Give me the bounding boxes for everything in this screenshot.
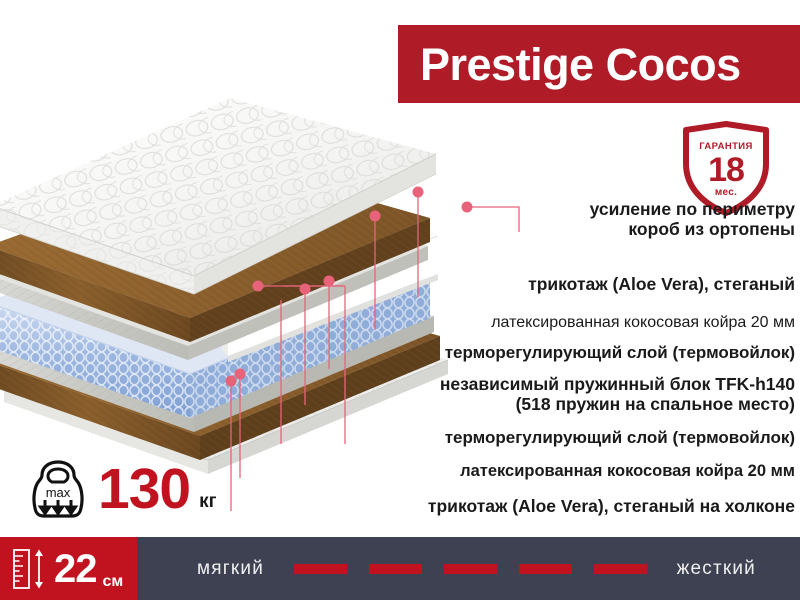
layer-label-knit-top: трикотаж (Aloe Vera), стеганый bbox=[528, 275, 795, 295]
kettlebell-icon: max bbox=[30, 458, 86, 520]
layer-label-coir-bottom: латексированная кокосовая койра 20 мм bbox=[460, 462, 795, 480]
kettlebell-max-label: max bbox=[46, 485, 71, 500]
product-infographic: Prestige Cocos ГАРАНТИЯ 18 мес. усиление… bbox=[0, 0, 800, 600]
page-title: Prestige Cocos bbox=[420, 42, 741, 87]
layer-label-spring-block: независимый пружинный блок TFK-h140 (518… bbox=[440, 375, 795, 414]
mattress-height-value: 22 bbox=[54, 549, 97, 589]
firmness-scale-marks bbox=[294, 564, 647, 574]
max-load-value: 130 bbox=[98, 461, 190, 518]
ruler-icon bbox=[12, 547, 48, 591]
max-load-indicator: max 130 кг bbox=[30, 458, 217, 520]
firmness-hard-label: жесткий bbox=[677, 558, 756, 580]
layer-label-knit-bottom: трикотаж (Aloe Vera), стеганый на холкон… bbox=[428, 497, 795, 517]
layer-label-perimeter: усиление по периметру короб из ортопены bbox=[590, 200, 795, 239]
mattress-cutaway-image bbox=[0, 88, 456, 488]
bottom-spec-bar: 22 см мягкий жесткий bbox=[0, 537, 800, 600]
layer-label-coir-top: латексированная кокосовая койра 20 мм bbox=[491, 314, 795, 332]
firmness-scale: мягкий жесткий bbox=[137, 537, 800, 600]
product-title-bar: Prestige Cocos bbox=[398, 25, 800, 103]
mattress-height-block: 22 см bbox=[0, 537, 137, 600]
max-load-unit: кг bbox=[199, 491, 216, 513]
firmness-mark bbox=[594, 564, 647, 574]
firmness-mark bbox=[444, 564, 497, 574]
mattress-height-unit: см bbox=[103, 573, 124, 591]
firmness-soft-label: мягкий bbox=[197, 558, 264, 580]
firmness-mark bbox=[519, 564, 572, 574]
layer-label-felt-top: терморегулирующий слой (термовойлок) bbox=[445, 343, 795, 362]
layer-label-felt-bottom: терморегулирующий слой (термовойлок) bbox=[445, 428, 795, 447]
firmness-mark bbox=[369, 564, 422, 574]
firmness-mark bbox=[294, 564, 347, 574]
